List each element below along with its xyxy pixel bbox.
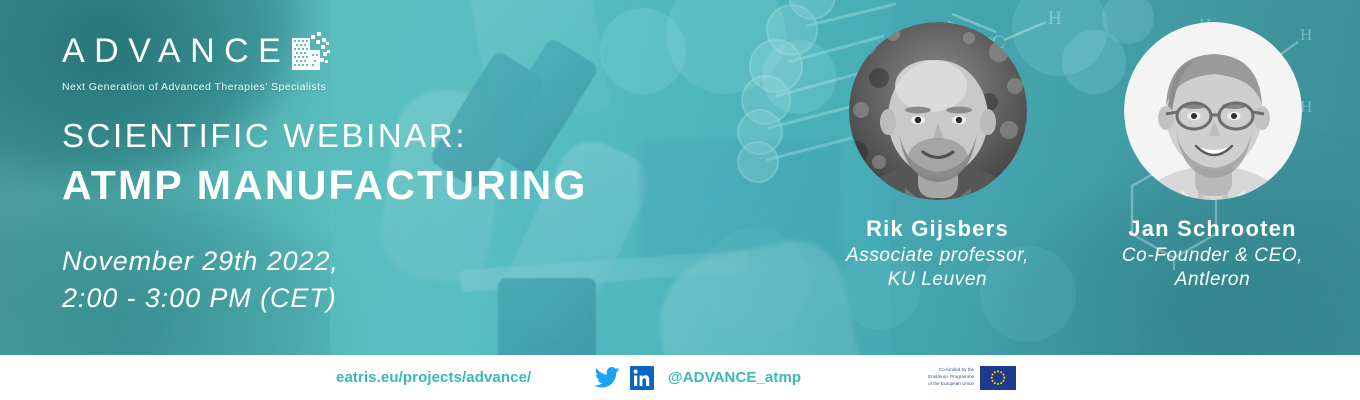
hero-artwork: C H H H C H H: [0, 0, 1360, 355]
speaker-role-line: Antleron: [1122, 268, 1303, 292]
speaker-role-line: KU Leuven: [846, 268, 1029, 292]
eu-funding-logo: Co-funded by the Erasmus+ Programme of t…: [928, 366, 1016, 390]
webinar-banner: C H H H C H H: [0, 0, 1360, 400]
bokeh-circle: [700, 228, 810, 338]
portrait-jan-schrooten: [1124, 22, 1302, 200]
webinar-kicker: SCIENTIFIC WEBINAR:: [62, 118, 588, 155]
speaker-card: Rik Gijsbers Associate professor, KU Leu…: [800, 22, 1075, 322]
datetime-block: November 29th 2022, 2:00 - 3:00 PM (CET): [62, 243, 339, 318]
speaker-role-line: Associate professor,: [846, 244, 1029, 268]
logo-wordmark: ADVANCE: [62, 34, 290, 68]
footer-bar: eatris.eu/projects/advance/ @ADVANCE_atm…: [0, 355, 1360, 400]
eu-funding-text: Co-funded by the Erasmus+ Programme of t…: [928, 367, 974, 388]
webinar-date: November 29th 2022,: [62, 243, 339, 280]
twitter-bird-icon[interactable]: [594, 367, 620, 389]
linkedin-icon[interactable]: [630, 366, 654, 390]
european-union-flag-icon: [980, 366, 1016, 390]
speaker-role-line: Co-Founder & CEO,: [1122, 244, 1303, 268]
logo-tagline: Next Generation of Advanced Therapies' S…: [62, 81, 326, 93]
speaker-role: Co-Founder & CEO, Antleron: [1122, 244, 1303, 293]
speaker-name: Rik Gijsbers: [866, 216, 1009, 242]
social-links: @ADVANCE_atmp: [594, 366, 801, 390]
social-handle-label: @ADVANCE_atmp: [668, 369, 801, 386]
portrait-rik-gijsbers: [849, 22, 1027, 200]
advance-logo: ADVANCE: [62, 30, 332, 93]
pixel-dissolve-mark-icon: [292, 30, 332, 75]
eu-funding-line3: of the European Union: [928, 381, 974, 388]
headline-block: SCIENTIFIC WEBINAR: ATMP MANUFACTURING: [62, 118, 588, 209]
speaker-card: Jan Schrooten Co-Founder & CEO, Antleron: [1075, 22, 1350, 322]
speaker-role: Associate professor, KU Leuven: [846, 244, 1029, 293]
eu-funding-line2: Erasmus+ Programme: [928, 374, 974, 381]
speaker-name: Jan Schrooten: [1128, 216, 1296, 242]
project-url-link[interactable]: eatris.eu/projects/advance/: [336, 369, 531, 386]
webinar-time: 2:00 - 3:00 PM (CET): [62, 280, 339, 317]
speakers-block: Rik Gijsbers Associate professor, KU Leu…: [800, 22, 1350, 322]
webinar-title: ATMP MANUFACTURING: [62, 161, 588, 209]
eu-funding-line1: Co-funded by the: [928, 367, 974, 374]
logo-row: ADVANCE: [62, 30, 332, 72]
